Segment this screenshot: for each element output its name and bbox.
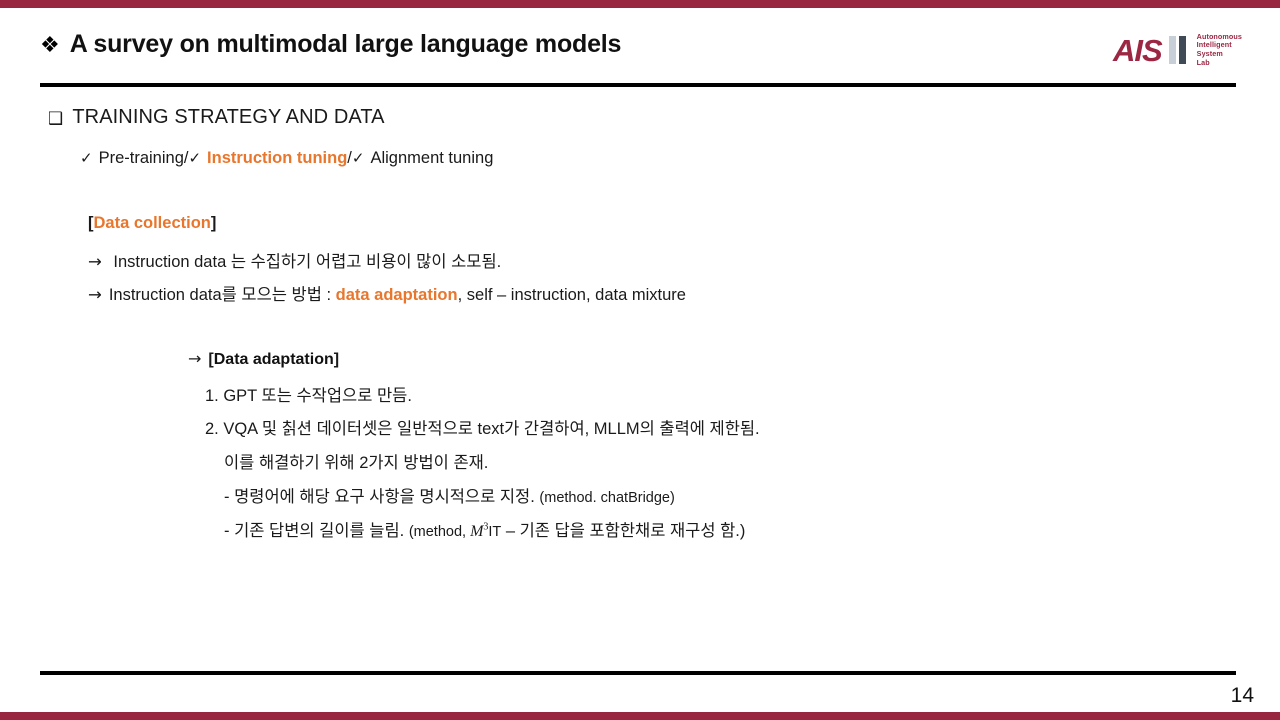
- data-adaptation-label-row: →[Data adaptation]: [188, 349, 339, 369]
- arrow-icon-1: →: [88, 252, 102, 271]
- square-bullet-icon: ❑: [48, 109, 63, 129]
- adaptation-method-1-paren: (method. chatBridge): [539, 490, 674, 506]
- adaptation-method-2-paren-close: – 기존 답을 포함한채로 재구성 함.): [501, 522, 745, 540]
- adaptation-method-1: - 명령어에 해당 요구 사항을 명시적으로 지정. (method. chat…: [224, 483, 675, 507]
- m3it-tail: IT: [488, 524, 501, 540]
- bottom-accent-bar: [0, 712, 1280, 720]
- adaptation-method-2-text: - 기존 답변의 길이를 늘림.: [224, 522, 409, 540]
- section-heading-row: ❑ TRAINING STRATEGY AND DATA: [48, 106, 385, 129]
- methods-prefix: Instruction data를 모으는 방법 :: [109, 286, 336, 304]
- check-icon-3: ✓: [352, 149, 365, 167]
- collection-methods-row: →Instruction data를 모으는 방법 : data adaptat…: [88, 281, 686, 305]
- page-number: 14: [1231, 684, 1254, 708]
- slide: ❖ A survey on multimodal large language …: [0, 0, 1280, 720]
- methods-highlight: data adaptation: [336, 286, 458, 304]
- adaptation-method-2-paren-open: (method,: [409, 524, 470, 540]
- adaptation-item-2: 2. VQA 및 칡션 데이터셋은 일반적으로 text가 간결하여, MLLM…: [205, 415, 760, 439]
- adaptation-item-1: 1. GPT 또는 수작업으로 만듬.: [205, 382, 412, 406]
- m3it-formula: M3: [470, 523, 488, 540]
- slide-body: ❑ TRAINING STRATEGY AND DATA ✓ Pre-train…: [0, 0, 1280, 720]
- collection-difficulty-text: Instruction data 는 수집하기 어렵고 비용이 많이 소모됨.: [113, 253, 501, 271]
- footer-divider: [40, 671, 1236, 675]
- check-icon-1: ✓: [80, 149, 93, 167]
- adaptation-item-2-continuation: 이를 해결하기 위해 2가지 방법이 존재.: [224, 449, 488, 473]
- arrow-icon-3: →: [188, 349, 201, 368]
- adapt-bracket-close: ]: [334, 351, 339, 368]
- check-icon-2: ✓: [188, 149, 201, 167]
- stage-label-instruction-tuning: Instruction tuning: [207, 149, 347, 168]
- data-adaptation-label: Data adaptation: [214, 351, 334, 368]
- section-heading: TRAINING STRATEGY AND DATA: [72, 106, 384, 129]
- m3it-base: M: [470, 523, 483, 540]
- adaptation-method-1-text: - 명령어에 해당 요구 사항을 명시적으로 지정.: [224, 488, 539, 506]
- stage-label-pre-training: Pre-training: [99, 149, 184, 168]
- methods-suffix: , self – instruction, data mixture: [458, 286, 686, 304]
- bracket-close: ]: [211, 214, 217, 232]
- data-collection-label-row: [Data collection]: [88, 214, 216, 233]
- training-stages-row: ✓ Pre-training / ✓ Instruction tuning / …: [80, 149, 493, 168]
- stage-label-alignment-tuning: Alignment tuning: [370, 149, 493, 168]
- adaptation-method-2: - 기존 답변의 길이를 늘림. (method, M3IT – 기존 답을 포…: [224, 517, 745, 541]
- collection-difficulty-row: → Instruction data 는 수집하기 어렵고 비용이 많이 소모됨…: [88, 248, 501, 272]
- arrow-icon-2: →: [88, 285, 102, 304]
- data-collection-label: Data collection: [94, 214, 211, 232]
